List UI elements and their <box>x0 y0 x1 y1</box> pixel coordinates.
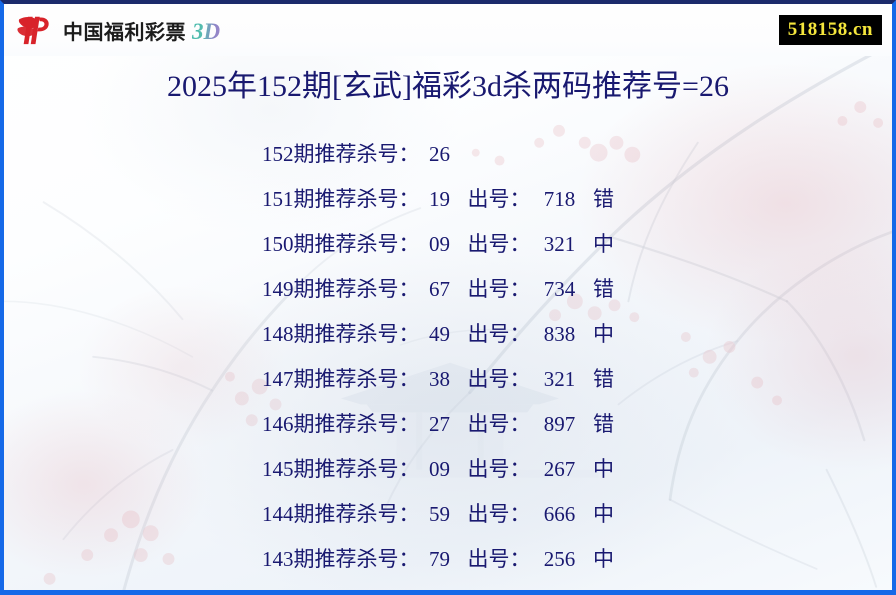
issue-label: 145期推荐杀号 <box>262 453 399 483</box>
issue-label: 148期推荐杀号 <box>262 318 399 348</box>
issue-label: 152期推荐杀号 <box>262 138 399 168</box>
draw-label: 出号 <box>460 363 510 393</box>
colon: ： <box>399 408 420 438</box>
issue-label: 150期推荐杀号 <box>262 228 399 258</box>
list-item: 147期推荐杀号 ： 38 出号 ： 321 错 <box>4 355 892 400</box>
draw-number: 321 <box>531 367 589 392</box>
kill-number: 09 <box>420 457 460 482</box>
prediction-history-list: 152期推荐杀号 ： 26 151期推荐杀号 ： 19 出号 ： 718 错 1… <box>4 130 892 580</box>
draw-number: 256 <box>531 547 589 572</box>
kill-number: 79 <box>420 547 460 572</box>
lottery-prediction-page: 中国福利彩票 3D 518158.cn 2025年152期[玄武]福彩3d杀两码… <box>0 0 896 595</box>
colon: ： <box>510 543 531 573</box>
page-title: 2025年152期[玄武]福彩3d杀两码推荐号=26 <box>4 61 892 105</box>
issue-label: 149期推荐杀号 <box>262 273 399 303</box>
result-badge: 中 <box>589 228 619 258</box>
colon: ： <box>399 363 420 393</box>
draw-number: 838 <box>531 322 589 347</box>
draw-number: 718 <box>531 187 589 212</box>
issue-label: 144期推荐杀号 <box>262 498 399 528</box>
colon: ： <box>510 453 531 483</box>
list-item: 146期推荐杀号 ： 27 出号 ： 897 错 <box>4 400 892 445</box>
draw-number: 321 <box>531 232 589 257</box>
list-item: 152期推荐杀号 ： 26 <box>4 130 892 175</box>
colon: ： <box>399 543 420 573</box>
result-badge: 错 <box>589 363 619 393</box>
colon: ： <box>399 273 420 303</box>
brand: 中国福利彩票 3D <box>16 13 220 47</box>
kill-number: 09 <box>420 232 460 257</box>
list-item: 143期推荐杀号 ： 79 出号 ： 256 中 <box>4 535 892 580</box>
colon: ： <box>399 318 420 348</box>
list-item: 149期推荐杀号 ： 67 出号 ： 734 错 <box>4 265 892 310</box>
kill-number: 49 <box>420 322 460 347</box>
colon: ： <box>510 498 531 528</box>
brand-game-label: 3D <box>192 19 220 45</box>
issue-label: 146期推荐杀号 <box>262 408 399 438</box>
draw-label: 出号 <box>460 543 510 573</box>
kill-number: 67 <box>420 277 460 302</box>
draw-label: 出号 <box>460 228 510 258</box>
draw-label: 出号 <box>460 318 510 348</box>
colon: ： <box>510 408 531 438</box>
kill-number: 19 <box>420 187 460 212</box>
page-header: 中国福利彩票 3D 518158.cn <box>4 4 892 56</box>
brand-text: 中国福利彩票 3D <box>63 16 220 45</box>
result-badge: 错 <box>589 183 619 213</box>
result-badge: 中 <box>589 453 619 483</box>
draw-label: 出号 <box>460 453 510 483</box>
colon: ： <box>399 183 420 213</box>
result-badge: 中 <box>589 498 619 528</box>
kill-number: 59 <box>420 502 460 527</box>
list-item: 145期推荐杀号 ： 09 出号 ： 267 中 <box>4 445 892 490</box>
colon: ： <box>399 228 420 258</box>
draw-number: 666 <box>531 502 589 527</box>
brand-name-label: 中国福利彩票 <box>63 16 186 45</box>
colon: ： <box>510 183 531 213</box>
issue-label: 147期推荐杀号 <box>262 363 399 393</box>
colon: ： <box>399 453 420 483</box>
draw-label: 出号 <box>460 273 510 303</box>
result-badge: 中 <box>589 318 619 348</box>
issue-label: 151期推荐杀号 <box>262 183 399 213</box>
colon: ： <box>399 138 420 168</box>
site-watermark-badge: 518158.cn <box>779 15 882 45</box>
colon: ： <box>510 273 531 303</box>
kill-number: 26 <box>420 142 460 167</box>
result-badge: 错 <box>589 273 619 303</box>
list-item: 151期推荐杀号 ： 19 出号 ： 718 错 <box>4 175 892 220</box>
draw-label: 出号 <box>460 408 510 438</box>
result-badge: 错 <box>589 408 619 438</box>
draw-number: 267 <box>531 457 589 482</box>
kill-number: 27 <box>420 412 460 437</box>
kill-number: 38 <box>420 367 460 392</box>
result-badge: 中 <box>589 543 619 573</box>
colon: ： <box>510 228 531 258</box>
colon: ： <box>399 498 420 528</box>
draw-label: 出号 <box>460 498 510 528</box>
draw-number: 734 <box>531 277 589 302</box>
list-item: 150期推荐杀号 ： 09 出号 ： 321 中 <box>4 220 892 265</box>
colon: ： <box>510 363 531 393</box>
issue-label: 143期推荐杀号 <box>262 543 399 573</box>
draw-label: 出号 <box>460 183 510 213</box>
china-welfare-lottery-logo-icon <box>16 13 54 47</box>
list-item: 144期推荐杀号 ： 59 出号 ： 666 中 <box>4 490 892 535</box>
colon: ： <box>510 318 531 348</box>
draw-number: 897 <box>531 412 589 437</box>
list-item: 148期推荐杀号 ： 49 出号 ： 838 中 <box>4 310 892 355</box>
